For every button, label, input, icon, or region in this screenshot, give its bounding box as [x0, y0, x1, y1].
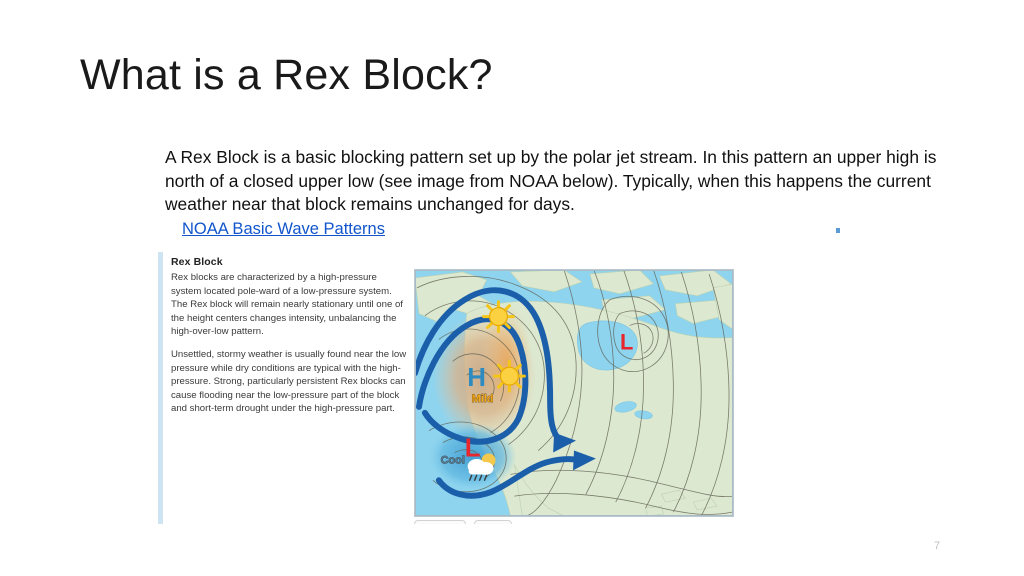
page-number: 7: [934, 540, 940, 552]
map-control-button-left[interactable]: [414, 520, 466, 524]
mild-temperature-label: Mild: [472, 393, 494, 405]
noaa-paragraph-1: Rex blocks are characterized by a high-p…: [171, 271, 409, 339]
eastern-low-pressure-label: L: [620, 329, 633, 354]
noaa-basic-wave-patterns-link[interactable]: NOAA Basic Wave Patterns: [182, 220, 385, 239]
noaa-text-column: Rex Block Rex blocks are characterized b…: [171, 256, 409, 425]
sun-icon: [495, 361, 525, 391]
cool-temperature-label: Cool: [441, 454, 465, 466]
embed-left-accent-bar: [158, 252, 163, 524]
map-control-button-right[interactable]: [474, 520, 512, 524]
noaa-paragraph-2: Unsettled, stormy weather is usually fou…: [171, 348, 409, 416]
high-pressure-label: H: [467, 364, 486, 392]
noaa-embedded-figure: Rex Block Rex blocks are characterized b…: [158, 252, 758, 524]
rex-block-weather-map: H Mild L Cool L: [414, 269, 734, 517]
blue-marker-artifact: [836, 228, 840, 233]
low-pressure-label: L: [465, 435, 481, 463]
body-paragraph: A Rex Block is a basic blocking pattern …: [165, 146, 955, 217]
sun-icon: [484, 302, 514, 332]
noaa-section-heading: Rex Block: [171, 256, 409, 268]
page-title: What is a Rex Block?: [80, 52, 493, 99]
weather-map-svg: H Mild L Cool L: [415, 270, 733, 516]
